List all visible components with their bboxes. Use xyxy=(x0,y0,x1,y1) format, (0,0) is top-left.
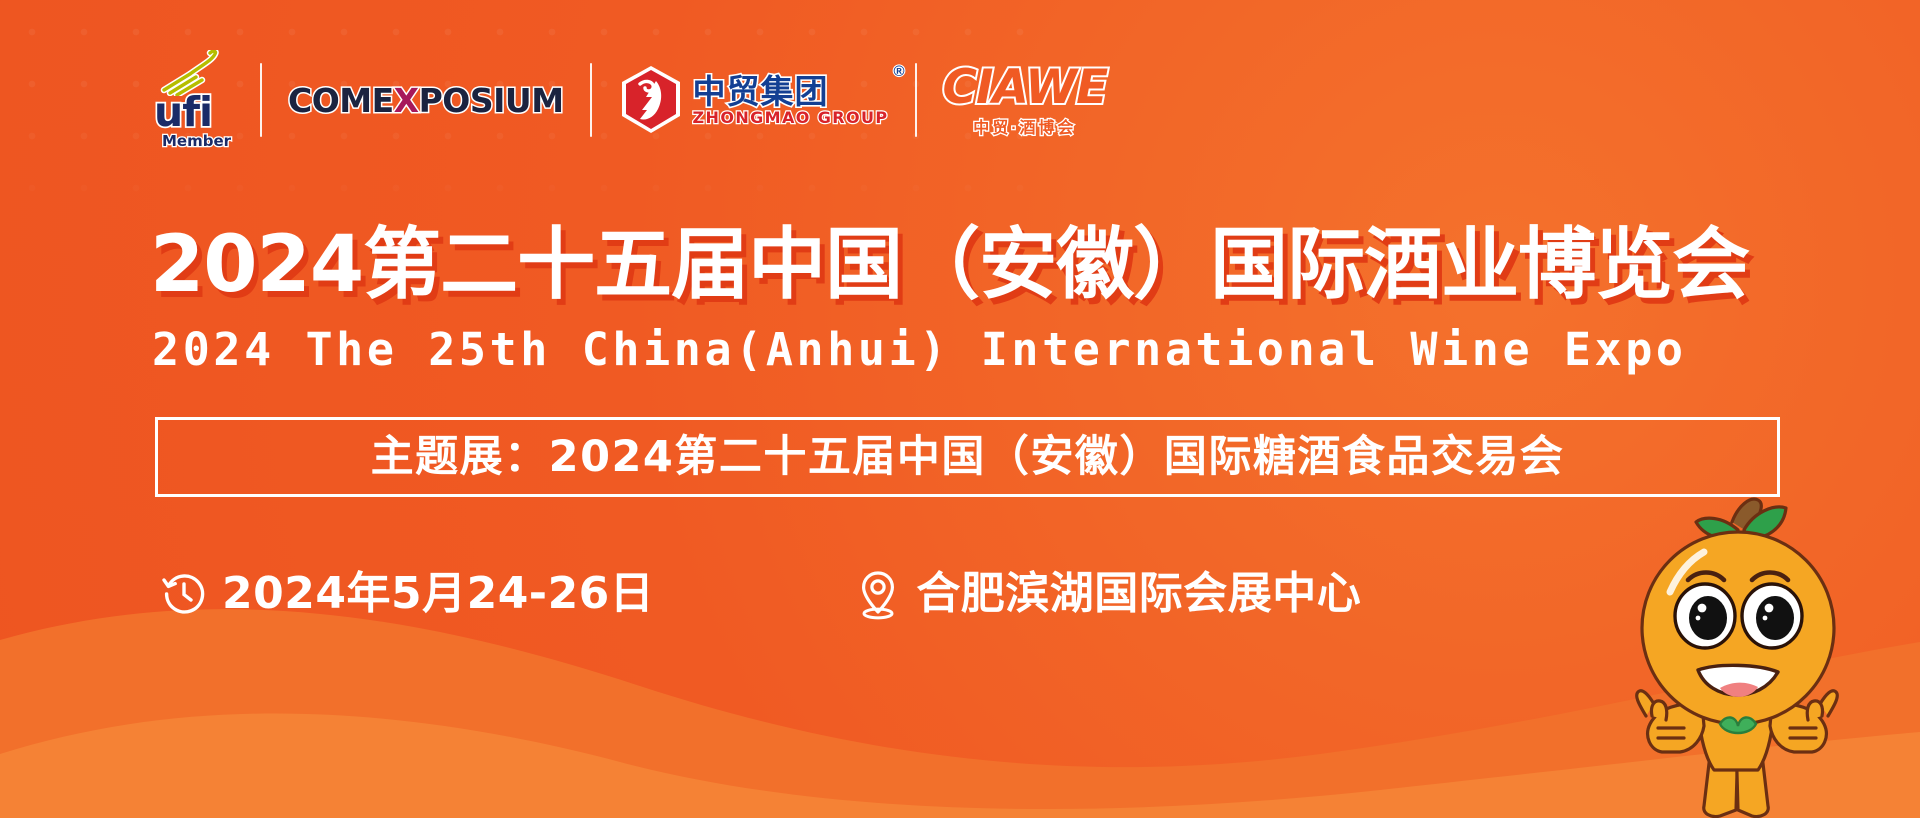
zhongmao-emblem-icon xyxy=(618,64,684,136)
partner-logo-bar: ufi Member COME X POSIUM 中贸集团 ZHONGMAO G… xyxy=(138,48,1107,152)
zhongmao-chinese-name: 中贸集团 xyxy=(693,74,829,109)
event-date-text: 2024年5月24-26日 xyxy=(222,569,654,619)
expo-banner: ufi Member COME X POSIUM 中贸集团 ZHONGMAO G… xyxy=(0,0,1920,818)
comexposium-logo: COME X POSIUM xyxy=(288,48,564,152)
registered-trademark-icon: ® xyxy=(893,63,904,80)
comexposium-wordmark-part1: COME xyxy=(288,81,394,120)
zhongmao-english-name: ZHONGMAO GROUP xyxy=(693,109,889,126)
event-venue-item: 合肥滨湖国际会展中心 xyxy=(854,568,1361,620)
expo-title-english: 2024 The 25th China(Anhui) International… xyxy=(152,325,1687,375)
clock-icon xyxy=(160,570,208,618)
expo-title-chinese: 2024第二十五届中国（安徽）国际酒业博览会 xyxy=(150,222,1749,308)
logo-divider xyxy=(260,63,262,137)
theme-exhibition-label: 主题展：2024第二十五届中国（安徽）国际糖酒食品交易会 xyxy=(371,433,1565,481)
ciawe-chinese-caption: 中贸·酒博会 xyxy=(973,114,1076,138)
location-pin-icon xyxy=(854,568,902,620)
ciawe-wordmark: CIAWE xyxy=(943,63,1108,112)
ufi-wordmark: ufi xyxy=(154,92,212,133)
zhongmao-group-logo: 中贸集团 ZHONGMAO GROUP ® xyxy=(618,48,889,152)
event-venue-text: 合肥滨湖国际会展中心 xyxy=(916,569,1361,619)
orange-mascot xyxy=(1592,488,1902,818)
comexposium-x-letter: X xyxy=(394,81,419,120)
ufi-logo: ufi Member xyxy=(138,48,234,152)
ufi-member-caption: Member xyxy=(162,134,231,149)
theme-exhibition-box: 主题展：2024第二十五届中国（安徽）国际糖酒食品交易会 xyxy=(155,417,1780,497)
logo-divider xyxy=(590,63,592,137)
event-date-item: 2024年5月24-26日 xyxy=(160,569,654,619)
logo-divider xyxy=(915,63,917,137)
ciawe-logo: CIAWE 中贸·酒博会 xyxy=(943,48,1108,152)
event-info-row: 2024年5月24-26日 合肥滨湖国际会展中心 xyxy=(160,568,1361,620)
comexposium-wordmark-part2: POSIUM xyxy=(419,81,564,120)
